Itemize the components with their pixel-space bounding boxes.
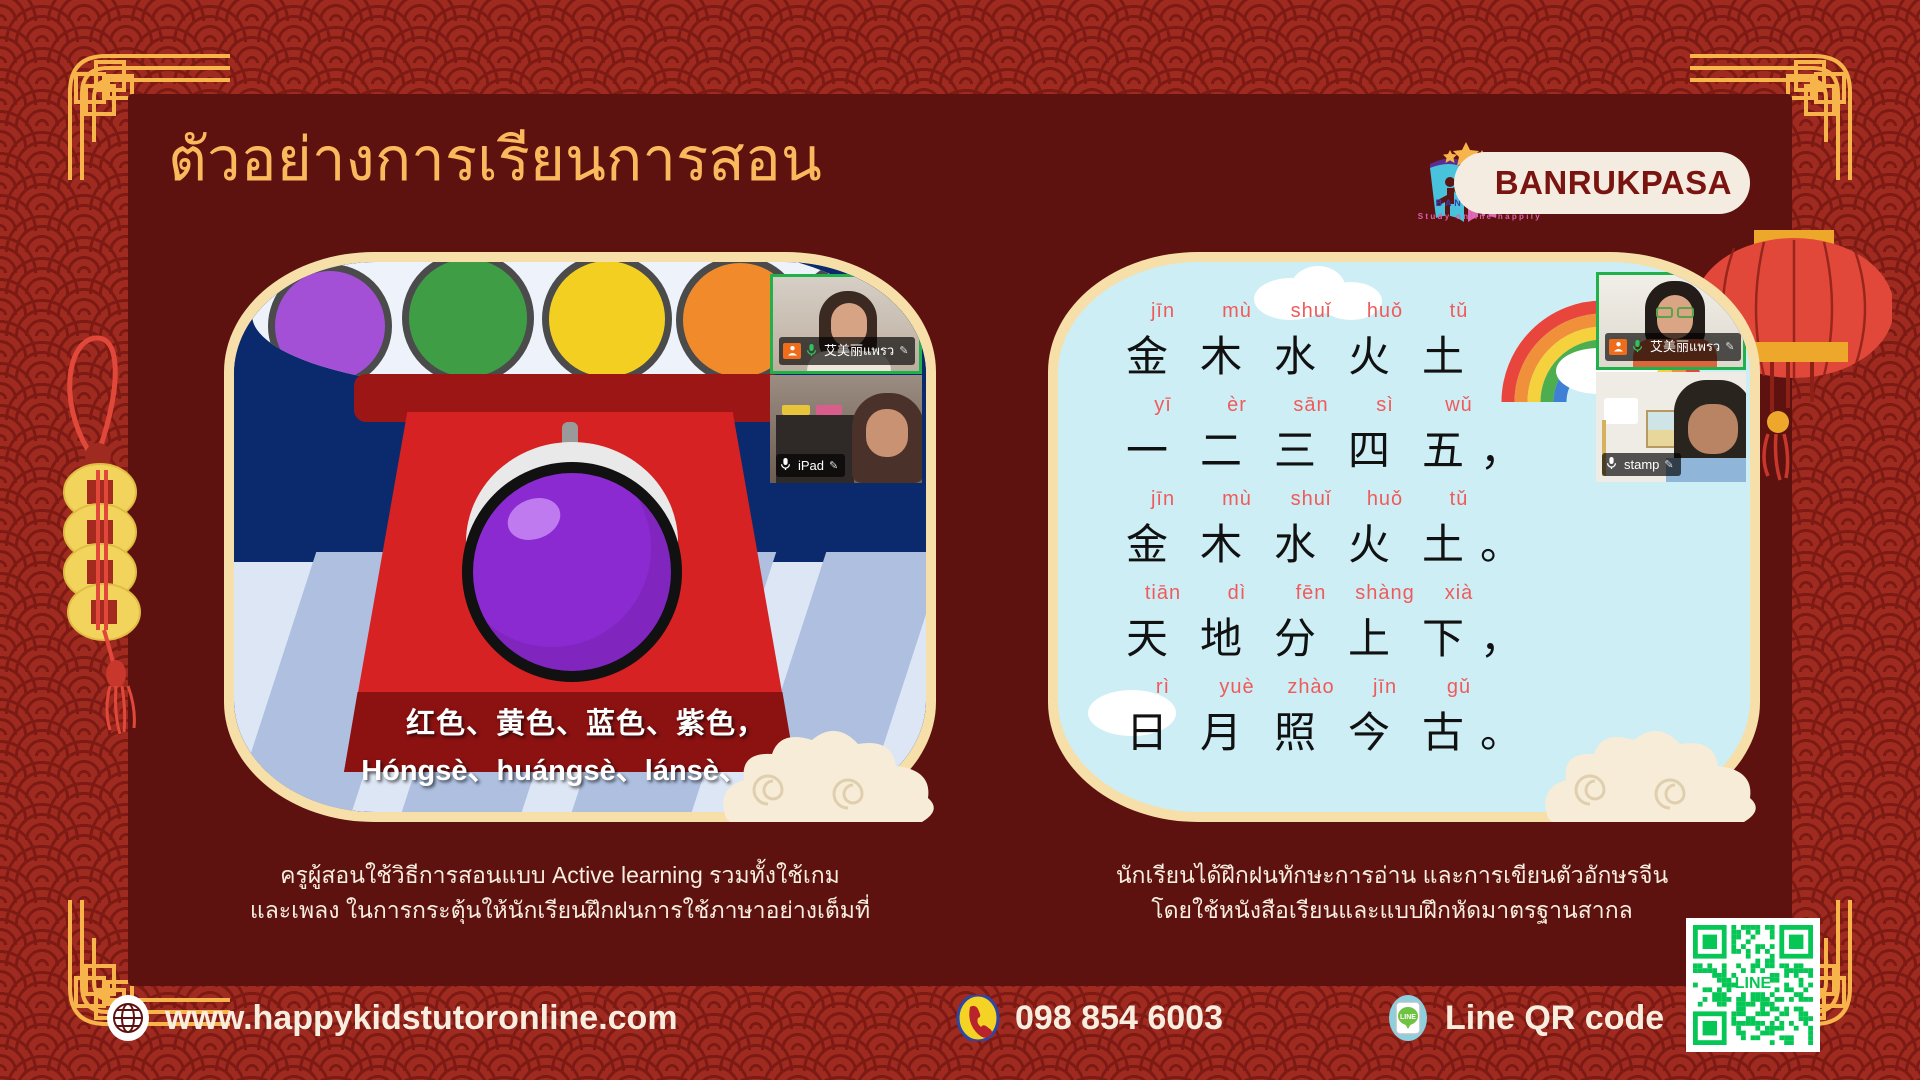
pinyin-syllable: zhào: [1274, 676, 1348, 699]
hanzi-character: 五: [1406, 417, 1480, 478]
chinese-cloud-icon: [716, 718, 946, 830]
pencil-icon[interactable]: ✎: [1725, 340, 1734, 353]
footer-line-text: Line QR code: [1445, 999, 1664, 1038]
poem-text: jīnmùshuǐhuǒtǔ金木水火土yīèrsānsìwǔ一二三四五，jīnm…: [1110, 300, 1630, 770]
pinyin-syllable: huǒ: [1348, 300, 1422, 323]
pinyin-syllable: yuè: [1200, 676, 1274, 699]
footer-website[interactable]: www.happykidstutoronline.com: [105, 995, 678, 1041]
pinyin-syllable: mù: [1200, 488, 1274, 511]
caption-line: ครูผู้สอนใช้วิธีการสอนแบบ Active learnin…: [190, 858, 930, 893]
video-tile-student[interactable]: iPad ✎: [770, 375, 922, 483]
tile-label: 艾美丽แพรว ✎: [1605, 333, 1741, 361]
logo-badge[interactable]: BANRUKPASA: [1454, 152, 1750, 214]
tile-label-text: 艾美丽แพรว: [824, 340, 894, 361]
hanzi-character: 今: [1332, 699, 1406, 760]
poem-line: yīèrsānsìwǔ一二三四五，: [1110, 394, 1630, 478]
line-qr-code[interactable]: LINE: [1686, 918, 1820, 1052]
pinyin-syllable: shuǐ: [1274, 488, 1348, 511]
pencil-icon[interactable]: ✎: [829, 459, 838, 472]
pinyin-syllable: huǒ: [1348, 488, 1422, 511]
caption-line: โดยใช้หนังสือเรียนและแบบฝึกหัดมาตรฐานสาก…: [1022, 893, 1762, 928]
hanzi-character: 四: [1332, 417, 1406, 478]
svg-text:LINE: LINE: [1400, 1014, 1416, 1021]
globe-icon: [105, 995, 151, 1041]
pencil-icon[interactable]: ✎: [899, 344, 908, 357]
hanzi-character: 土: [1406, 323, 1480, 384]
caption-line: และเพลง ในการกระตุ้นให้นักเรียนฝึกฝนการใ…: [190, 893, 930, 928]
hanzi-character: 地: [1184, 605, 1258, 666]
poem-hanzi: 金木水火土。: [1110, 511, 1630, 572]
hanzi-character: 水: [1258, 511, 1332, 572]
hanzi-character: 火: [1332, 511, 1406, 572]
pinyin-syllable: gǔ: [1422, 676, 1496, 699]
video-tile-student[interactable]: stamp ✎: [1596, 372, 1746, 482]
hanzi-character: 二: [1184, 417, 1258, 478]
pinyin-syllable: dì: [1200, 582, 1274, 605]
hanzi-character: 三: [1258, 417, 1332, 478]
pinyin-syllable: xià: [1422, 582, 1496, 605]
hanzi-punctuation: 。: [1480, 699, 1514, 760]
hanzi-character: 金: [1110, 511, 1184, 572]
footer-phone-text: 098 854 6003: [1015, 999, 1223, 1038]
hanzi-punctuation: 。: [1480, 511, 1514, 572]
pinyin-syllable: fēn: [1274, 582, 1348, 605]
poem-pinyin: yīèrsānsìwǔ: [1110, 394, 1630, 417]
pencil-icon[interactable]: ✎: [1664, 458, 1673, 471]
hanzi-character: 天: [1110, 605, 1184, 666]
hanzi-character: 月: [1184, 699, 1258, 760]
poem-line: jīnmùshuǐhuǒtǔ金木水火土。: [1110, 488, 1630, 572]
chinese-cloud-icon: [1538, 718, 1768, 830]
hanzi-character: 照: [1258, 699, 1332, 760]
hanzi-character: 一: [1110, 417, 1184, 478]
hanzi-punctuation: ，: [1480, 417, 1514, 478]
chinese-gold-coins-icon: [48, 330, 158, 760]
tile-label: iPad ✎: [776, 454, 845, 477]
hanzi-character: 日: [1110, 699, 1184, 760]
mic-icon: [1606, 456, 1619, 472]
host-icon: [783, 343, 801, 359]
poem-line: tiāndìfēnshàngxià天地分上下，: [1110, 582, 1630, 666]
pinyin-syllable: tǔ: [1422, 300, 1496, 323]
poem-hanzi: 金木水火土: [1110, 323, 1630, 384]
left-caption: ครูผู้สอนใช้วิธีการสอนแบบ Active learnin…: [190, 858, 930, 927]
line-app-icon: LINE: [1385, 995, 1431, 1041]
pinyin-syllable: jīn: [1348, 676, 1422, 699]
tile-label: 艾美丽แพรว ✎: [779, 337, 915, 365]
footer-phone[interactable]: 098 854 6003: [955, 995, 1223, 1041]
right-caption: นักเรียนได้ฝึกฝนทักษะการอ่าน และการเขียน…: [1022, 858, 1762, 927]
poem-hanzi: 一二三四五，: [1110, 417, 1630, 478]
hanzi-character: 火: [1332, 323, 1406, 384]
pinyin-syllable: tǔ: [1422, 488, 1496, 511]
pinyin-syllable: mù: [1200, 300, 1274, 323]
svg-text:LINE: LINE: [1735, 975, 1772, 992]
hanzi-character: 木: [1184, 323, 1258, 384]
pinyin-syllable: rì: [1126, 676, 1200, 699]
pinyin-syllable: yī: [1126, 394, 1200, 417]
hanzi-character: 金: [1110, 323, 1184, 384]
pinyin-syllable: jīn: [1126, 300, 1200, 323]
hanzi-character: 木: [1184, 511, 1258, 572]
host-icon: [1609, 339, 1627, 355]
video-tile-teacher[interactable]: 艾美丽แพรว ✎: [1596, 272, 1746, 370]
caption-line: นักเรียนได้ฝึกฝนทักษะการอ่าน และการเขียน…: [1022, 858, 1762, 893]
pinyin-syllable: jīn: [1126, 488, 1200, 511]
phone-icon: [955, 995, 1001, 1041]
tile-label: stamp ✎: [1602, 453, 1681, 476]
pinyin-syllable: èr: [1200, 394, 1274, 417]
hanzi-character: 土: [1406, 511, 1480, 572]
mic-icon: [1632, 339, 1645, 355]
page-title: ตัวอย่างการเรียนการสอน: [168, 124, 822, 196]
hanzi-character: 水: [1258, 323, 1332, 384]
pinyin-syllable: tiān: [1126, 582, 1200, 605]
poem-pinyin: jīnmùshuǐhuǒtǔ: [1110, 300, 1630, 323]
footer-line-label[interactable]: LINE Line QR code: [1385, 995, 1664, 1041]
pinyin-syllable: shàng: [1348, 582, 1422, 605]
pinyin-syllable: sān: [1274, 394, 1348, 417]
tile-label-text: iPad: [798, 458, 824, 473]
hanzi-character: 分: [1258, 605, 1332, 666]
video-tile-teacher[interactable]: 艾美丽แพรว ✎: [770, 274, 922, 374]
selected-gumball[interactable]: [462, 462, 682, 682]
mic-icon: [806, 343, 819, 359]
pinyin-syllable: sì: [1348, 394, 1422, 417]
pinyin-syllable: wǔ: [1422, 394, 1496, 417]
poem-hanzi: 天地分上下，: [1110, 605, 1630, 666]
mic-icon: [780, 457, 793, 473]
footer-website-text: www.happykidstutoronline.com: [165, 999, 678, 1038]
poem-pinyin: jīnmùshuǐhuǒtǔ: [1110, 488, 1630, 511]
logo-wordmark: BANRUKPASA: [1495, 164, 1732, 202]
tile-label-text: stamp: [1624, 457, 1659, 472]
hanzi-punctuation: ，: [1480, 605, 1514, 666]
tile-label-text: 艾美丽แพรว: [1650, 336, 1720, 357]
hanzi-character: 古: [1406, 699, 1480, 760]
hanzi-character: 下: [1406, 605, 1480, 666]
pinyin-syllable: shuǐ: [1274, 300, 1348, 323]
poem-pinyin: tiāndìfēnshàngxià: [1110, 582, 1630, 605]
hanzi-character: 上: [1332, 605, 1406, 666]
poem-pinyin: rìyuèzhàojīngǔ: [1110, 676, 1630, 699]
poem-line: jīnmùshuǐhuǒtǔ金木水火土: [1110, 300, 1630, 384]
